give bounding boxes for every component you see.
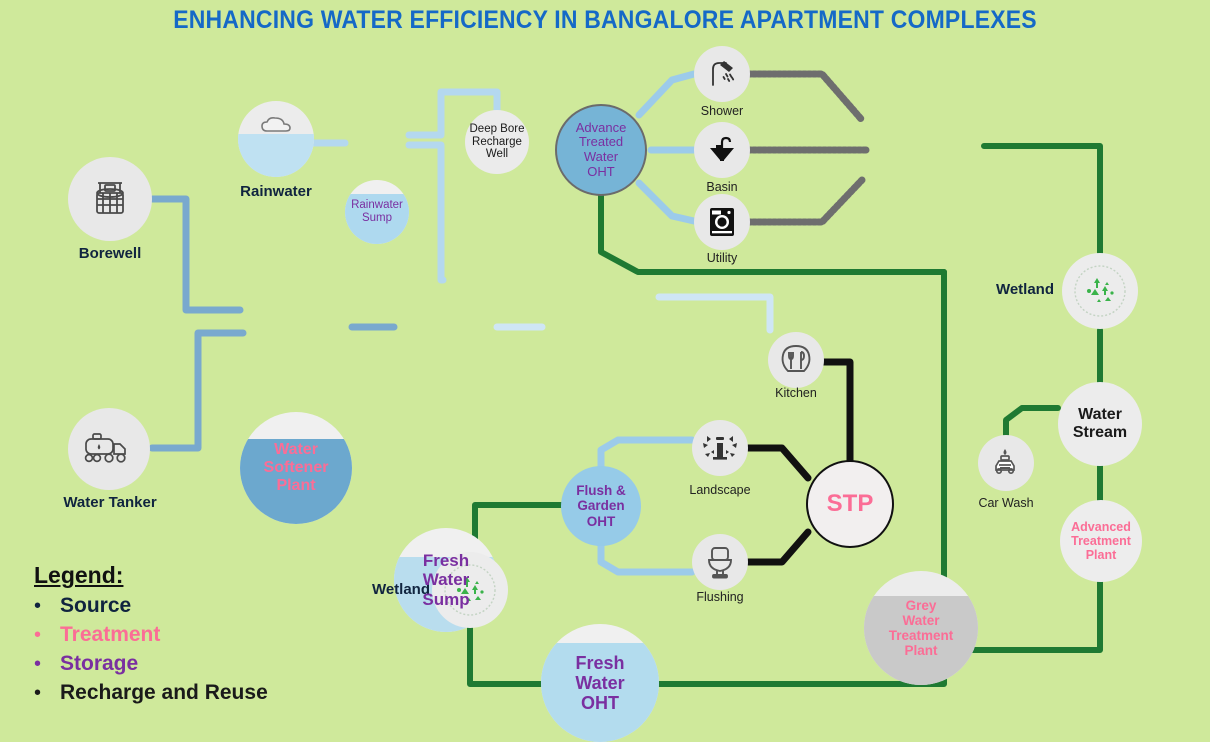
legend-bullet-source: • <box>34 595 60 618</box>
gwtp-line3: Treatment <box>864 628 978 643</box>
label-borewell: Borewell <box>28 245 192 262</box>
fwoht-line3: OHT <box>541 693 659 713</box>
legend-item-recharge-and-reuse: • Recharge and Reuse <box>34 681 268 705</box>
node-flush-garden-oht[interactable]: Flush & Garden OHT <box>561 466 641 546</box>
node-grey-water-treatment-plant[interactable]: Grey Water Treatment Plant <box>864 571 978 685</box>
pipe-landscape-to-stp <box>748 448 808 478</box>
car-wash-icon <box>988 446 1024 480</box>
diagram-canvas: ENHANCING WATER EFFICIENCY IN BANGALORE … <box>0 0 1210 723</box>
node-advanced-treatment-plant[interactable]: Advanced Treatment Plant <box>1060 500 1142 582</box>
node-borewell[interactable] <box>68 157 152 241</box>
legend-item-source: • Source <box>34 594 268 618</box>
label-shower: Shower <box>672 104 772 118</box>
fixture-car-wash[interactable] <box>978 435 1034 491</box>
node-water-tanker[interactable] <box>68 408 150 490</box>
node-rainwater[interactable] <box>238 101 314 177</box>
label-utility: Utility <box>672 251 772 265</box>
atp-line2: Treatment <box>1071 534 1131 548</box>
fixture-basin[interactable] <box>694 122 750 178</box>
label-landscape: Landscape <box>670 483 770 497</box>
fwoht-line1: Fresh <box>541 653 659 673</box>
pipe-carwash-to-stream <box>1006 408 1058 435</box>
cloud-water-icon <box>259 115 293 135</box>
softener-line1: Water <box>240 441 352 459</box>
legend-bullet-recharge: • <box>34 682 60 705</box>
legend-label-treatment: Treatment <box>60 623 160 647</box>
node-water-stream[interactable]: Water Stream <box>1058 382 1142 466</box>
pipe-gwtp-to-wetland-right <box>984 146 1100 253</box>
fgoht-line1: Flush & <box>576 483 626 498</box>
fws-line2: Water <box>394 570 498 589</box>
stream-line2: Stream <box>1073 424 1127 442</box>
legend-heading: Legend: <box>34 562 268 589</box>
adv-line4: OHT <box>576 165 627 180</box>
pipe-tanker-to-softener <box>152 333 243 448</box>
adv-line2: Treated <box>576 135 627 150</box>
rainwater-sump-line1: Rainwater <box>345 199 409 212</box>
basin-icon <box>705 133 739 167</box>
adv-line1: Advance <box>576 121 627 136</box>
fixture-landscape[interactable] <box>692 420 748 476</box>
legend-label-source: Source <box>60 594 131 618</box>
gwtp-line2: Water <box>864 613 978 628</box>
label-wetland-right: Wetland <box>948 281 1054 298</box>
pipe-kitchen-to-stp <box>822 362 850 462</box>
node-stp[interactable]: STP <box>806 460 894 548</box>
pipe-flushing-to-stp <box>748 532 808 562</box>
pipe-advoht-green-down <box>601 190 944 272</box>
legend: Legend: • Source • Treatment • Storage •… <box>34 562 268 705</box>
adv-line3: Water <box>576 150 627 165</box>
softener-line2: Softener <box>240 459 352 477</box>
deepbore-line3: Well <box>470 148 525 161</box>
fixture-flushing[interactable] <box>692 534 748 590</box>
water-fill <box>238 134 314 177</box>
gwtp-line4: Plant <box>864 643 978 658</box>
legend-bullet-storage: • <box>34 653 60 676</box>
fixture-shower[interactable] <box>694 46 750 102</box>
label-rainwater: Rainwater <box>196 183 356 200</box>
stp-label: STP <box>827 491 874 518</box>
rainwater-sump-line2: Sump <box>345 212 409 225</box>
node-wetland-right[interactable] <box>1062 253 1138 329</box>
softener-line3: Plant <box>240 477 352 495</box>
node-fresh-water-oht[interactable]: Fresh Water OHT <box>541 624 659 742</box>
deepbore-line1: Deep Bore <box>470 123 525 136</box>
stream-line1: Water <box>1073 406 1127 424</box>
gwtp-line1: Grey <box>864 598 978 613</box>
fgoht-line2: Garden <box>576 498 626 513</box>
pipe-fgoht-to-landscape <box>601 440 692 470</box>
fixture-kitchen[interactable] <box>768 332 824 388</box>
well-icon <box>86 175 134 223</box>
label-flushing: Flushing <box>670 590 770 604</box>
fwoht-line2: Water <box>541 673 659 693</box>
node-deep-bore-recharge-well[interactable]: Deep Bore Recharge Well <box>465 110 529 174</box>
washing-machine-icon <box>706 205 738 239</box>
legend-bullet-treatment: • <box>34 624 60 647</box>
pipe-fgoht-to-wetland-left <box>475 505 551 552</box>
label-basin: Basin <box>672 180 772 194</box>
legend-item-treatment: • Treatment <box>34 623 268 647</box>
legend-label-recharge: Recharge and Reuse <box>60 681 268 705</box>
tanker-truck-icon <box>83 430 135 468</box>
fws-line1: Fresh <box>394 551 498 570</box>
label-kitchen: Kitchen <box>746 386 846 400</box>
fixture-utility[interactable] <box>694 194 750 250</box>
atp-line3: Plant <box>1071 548 1131 562</box>
toilet-icon <box>703 544 737 580</box>
cutlery-icon <box>778 342 814 378</box>
wetland-icon <box>1072 263 1128 319</box>
pipe-fgoht-to-flushing <box>601 542 692 572</box>
legend-label-storage: Storage <box>60 652 138 676</box>
deepbore-line2: Recharge <box>470 136 525 149</box>
shower-icon <box>705 57 739 91</box>
pipe-sump-to-freshsump <box>409 145 443 280</box>
node-rainwater-sump[interactable]: Rainwater Sump <box>345 180 409 244</box>
atp-line1: Advanced <box>1071 520 1131 534</box>
label-car-wash: Car Wash <box>956 496 1056 510</box>
pipe-freshoht-to-kitchen <box>659 297 770 330</box>
node-water-softener-plant[interactable]: Water Softener Plant <box>240 412 352 524</box>
node-advance-treated-water-oht[interactable]: Advance Treated Water OHT <box>555 104 647 196</box>
fws-line3: Sump <box>394 590 498 609</box>
sprinkler-icon <box>701 431 739 465</box>
fgoht-line3: OHT <box>576 514 626 529</box>
legend-item-storage: • Storage <box>34 652 268 676</box>
label-water-tanker: Water Tanker <box>25 494 195 511</box>
